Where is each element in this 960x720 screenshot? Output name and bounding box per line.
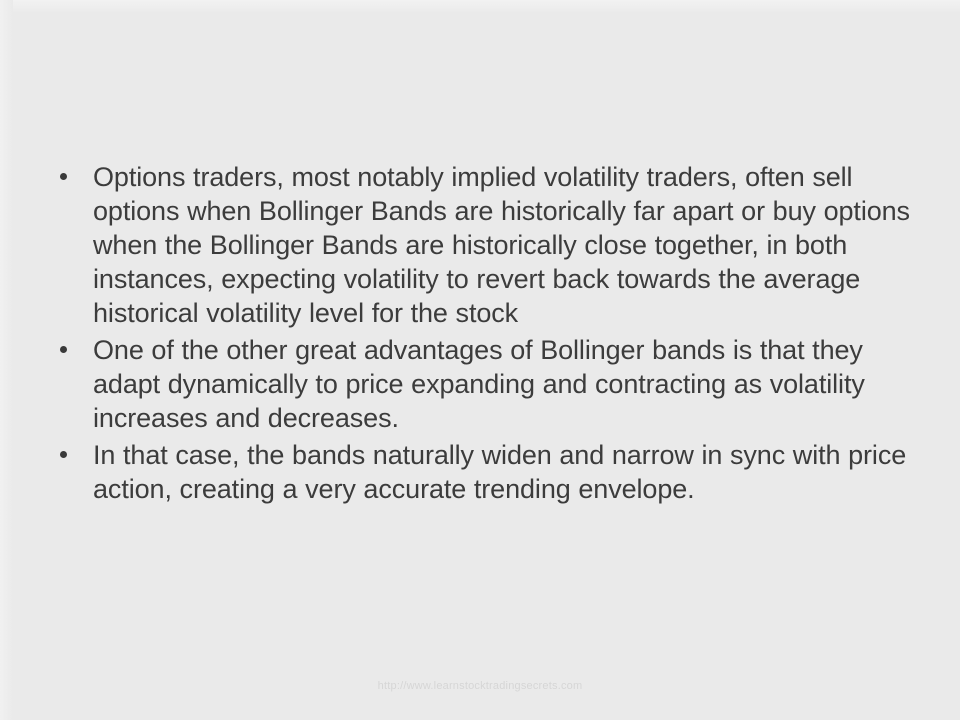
list-item: Options traders, most notably implied vo… bbox=[52, 160, 912, 330]
bullet-dot-icon bbox=[60, 173, 67, 180]
bullet-text: Options traders, most notably implied vo… bbox=[93, 160, 912, 330]
bullet-text: In that case, the bands naturally widen … bbox=[93, 438, 912, 506]
bullet-dot-icon bbox=[60, 346, 67, 353]
list-item: One of the other great advantages of Bol… bbox=[52, 333, 912, 435]
slide-canvas: Options traders, most notably implied vo… bbox=[0, 0, 960, 720]
bullet-text: One of the other great advantages of Bol… bbox=[93, 333, 912, 435]
bullet-dot-icon bbox=[60, 451, 67, 458]
bullet-list: Options traders, most notably implied vo… bbox=[52, 160, 912, 506]
footer-url: http://www.learnstocktradingsecrets.com bbox=[0, 679, 960, 693]
list-item: In that case, the bands naturally widen … bbox=[52, 438, 912, 506]
